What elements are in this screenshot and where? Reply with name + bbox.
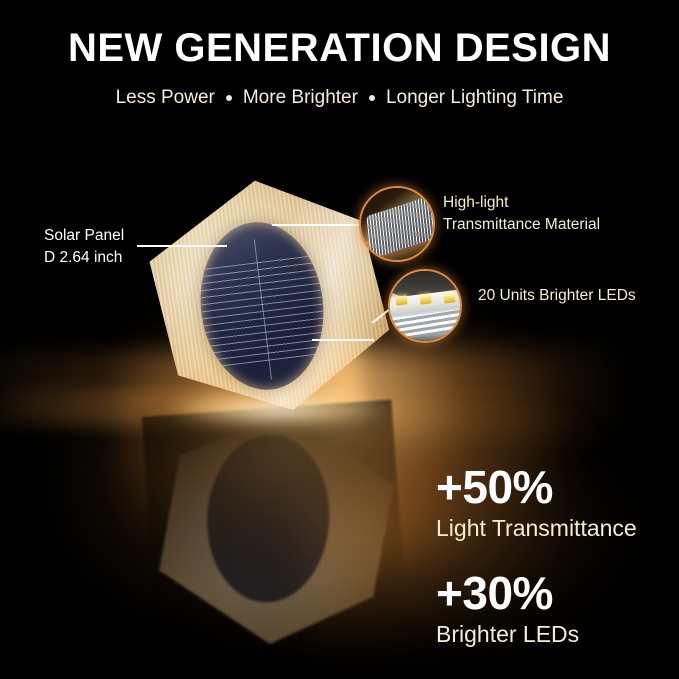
solar-panel xyxy=(191,215,333,397)
inset-material-closeup xyxy=(359,186,435,262)
callout-solar-panel-line1: Solar Panel xyxy=(44,225,124,247)
stat-brighter-leds-label: Brighter LEDs xyxy=(436,620,579,649)
bullet-dot-icon xyxy=(226,95,232,101)
solar-panel-sheen xyxy=(191,215,333,397)
callout-material: High-light Transmittance Material xyxy=(443,192,600,236)
inset-led-closeup xyxy=(388,269,462,343)
stat-brighter-leds-value: +30% xyxy=(436,570,579,616)
stat-light-transmittance-value: +50% xyxy=(436,464,637,510)
callout-solar-panel: Solar Panel D 2.64 inch xyxy=(44,225,124,269)
leader-line-leds xyxy=(312,339,374,341)
callout-material-line1: High-light xyxy=(443,192,600,214)
product-reflection xyxy=(142,400,408,657)
reflection-fade xyxy=(142,400,408,657)
stat-light-transmittance-label: Light Transmittance xyxy=(436,514,637,543)
subtitle-item-longer-lighting-time: Longer Lighting Time xyxy=(386,87,563,109)
stat-brighter-leds: +30% Brighter LEDs xyxy=(436,570,579,649)
callout-solar-panel-line2: D 2.64 inch xyxy=(44,247,124,269)
page-title: NEW GENERATION DESIGN xyxy=(0,26,679,71)
callout-leds: 20 Units Brighter LEDs xyxy=(478,285,636,307)
bullet-dot-icon xyxy=(369,95,375,101)
leader-line-material xyxy=(272,224,362,226)
led-chip-icon xyxy=(419,294,431,304)
subtitle-feature-list: Less Power More Brighter Longer Lighting… xyxy=(0,87,679,109)
callout-material-line2: Transmittance Material xyxy=(443,214,600,236)
led-chip-icon xyxy=(443,293,455,303)
product-marketing-image: NEW GENERATION DESIGN Less Power More Br… xyxy=(0,0,679,679)
leader-line-solar-panel xyxy=(137,245,227,247)
subtitle-item-less-power: Less Power xyxy=(116,87,215,109)
stat-light-transmittance: +50% Light Transmittance xyxy=(436,464,637,543)
callout-leds-line1: 20 Units Brighter LEDs xyxy=(478,285,636,307)
hexagonal-solar-light xyxy=(143,176,393,416)
subtitle-item-more-brighter: More Brighter xyxy=(243,87,358,109)
led-chip-icon xyxy=(395,295,407,305)
